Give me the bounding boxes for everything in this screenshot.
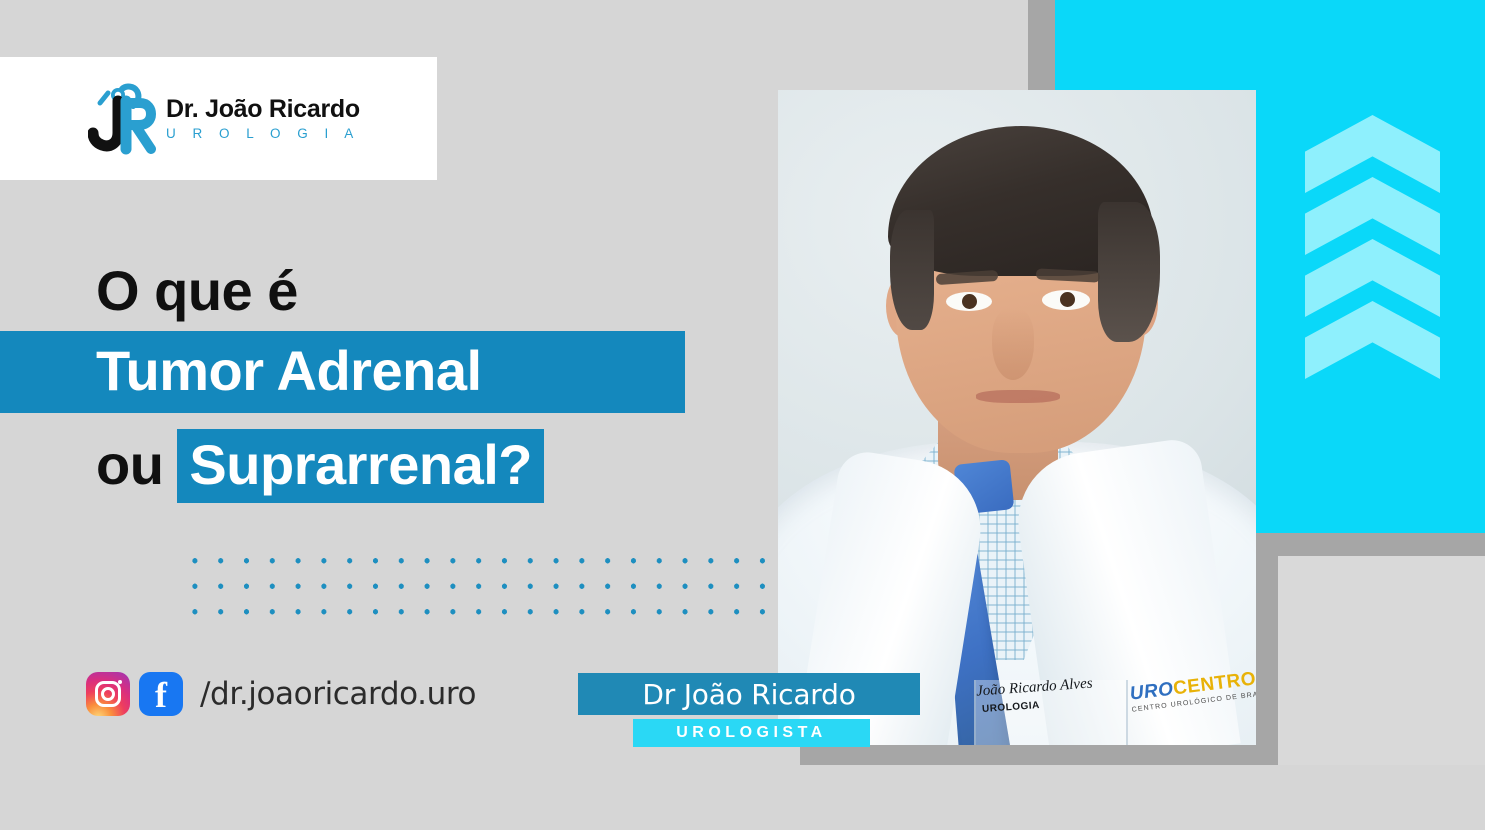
brand-name: Dr. João Ricardo xyxy=(166,96,360,122)
facebook-icon[interactable]: f xyxy=(139,672,183,716)
hair-left-side xyxy=(890,210,934,330)
chevron-stack xyxy=(1305,115,1440,370)
jr-monogram-icon xyxy=(88,83,156,155)
facebook-glyph: f xyxy=(139,677,183,713)
mouth xyxy=(976,390,1060,403)
poster-canvas: Dr. João Ricardo U R O L O G I A O que é… xyxy=(0,0,1485,830)
brand-logo: Dr. João Ricardo U R O L O G I A xyxy=(88,83,360,155)
brand-logo-text: Dr. João Ricardo U R O L O G I A xyxy=(166,96,360,140)
gray-card-bottom-right xyxy=(1278,556,1485,765)
headline-line-3-highlight: Suprarrenal? xyxy=(177,429,544,503)
doctor-portrait-photo: João Ricardo Alves UROLOGIA UROCENTRO CE… xyxy=(778,90,1256,745)
instagram-icon[interactable] xyxy=(86,672,130,716)
brand-subtitle: U R O L O G I A xyxy=(166,126,360,141)
doctor-name-badge: Dr João Ricardo xyxy=(578,673,920,715)
right-eye xyxy=(1042,290,1090,310)
headline-line-2: Tumor Adrenal xyxy=(0,331,685,413)
social-handle-text: /dr.joaoricardo.uro xyxy=(200,676,476,712)
clinic-logo-uro: URO xyxy=(1129,679,1175,705)
nose xyxy=(992,308,1034,380)
brand-logo-card: Dr. João Ricardo U R O L O G I A xyxy=(0,57,437,180)
hair-right-side xyxy=(1098,202,1160,342)
doctor-specialty-badge: UROLOGISTA xyxy=(633,719,870,747)
headline-line-3: ou Suprarrenal? xyxy=(96,429,760,503)
headline-line-3-plain: ou xyxy=(96,437,163,493)
chevron-up-icon xyxy=(1305,301,1440,379)
headline-line-1: O que é xyxy=(96,263,760,319)
left-eye xyxy=(946,292,992,311)
social-handles: f /dr.joaoricardo.uro xyxy=(86,672,476,716)
headline-block: O que é Tumor Adrenal ou Suprarrenal? xyxy=(0,263,760,503)
